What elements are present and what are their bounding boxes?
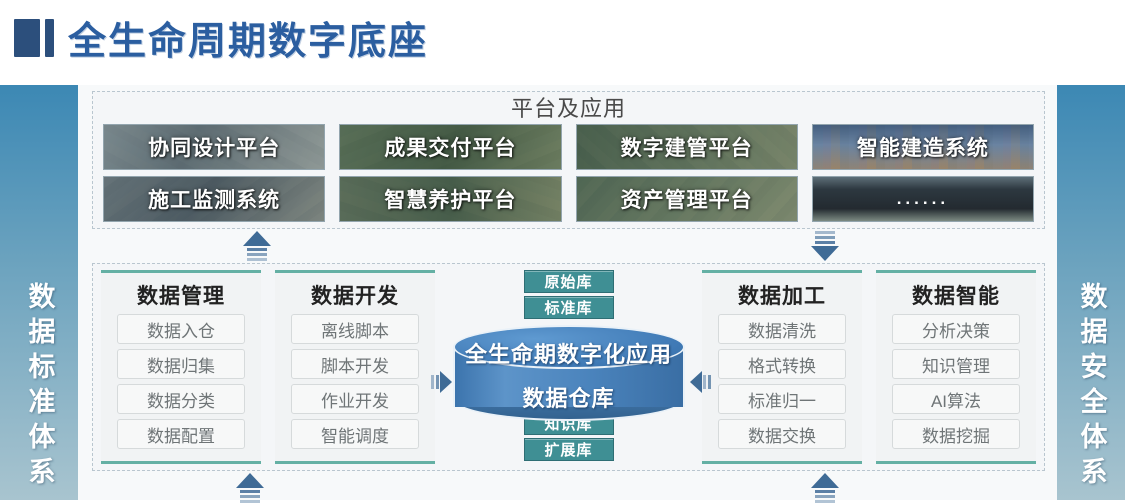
platform-card-smart-construction-system[interactable]: 智能建造系统 bbox=[812, 124, 1034, 170]
platform-card-smart-maintenance[interactable]: 智慧养护平台 bbox=[339, 176, 561, 222]
data-column-item[interactable]: 离线脚本 bbox=[291, 314, 419, 344]
right-vertical-band: 数据安全体系 bbox=[1057, 85, 1125, 500]
arrow-left-icon-from-warehouse bbox=[690, 371, 711, 393]
title-mark-icon bbox=[14, 19, 54, 57]
data-column-title: 数据加工 bbox=[738, 280, 826, 310]
diagram-inner: 平台及应用 协同设计平台 成果交付平台 数字建管平台 智能建造系统 施工监测系统 bbox=[78, 85, 1057, 500]
platform-card-grid: 协同设计平台 成果交付平台 数字建管平台 智能建造系统 施工监测系统 智慧养护平… bbox=[93, 124, 1044, 228]
data-column-data-intelligence: 数据智能 分析决策 知识管理 AI算法 数据挖掘 bbox=[876, 270, 1036, 464]
arrow-right-icon-into-warehouse bbox=[431, 371, 452, 393]
arrow-head bbox=[236, 473, 264, 488]
data-warehouse-cylinder: 全生命期数字化应用 数据仓库 bbox=[453, 325, 685, 408]
arrow-down-icon-platform-right bbox=[811, 231, 839, 261]
arrow-up-icon-bottom-left bbox=[236, 473, 264, 503]
platform-card-label: 智慧养护平台 bbox=[384, 184, 516, 214]
platform-card-asset-management[interactable]: 资产管理平台 bbox=[576, 176, 798, 222]
data-columns-row: 数据管理 数据入仓 数据归集 数据分类 数据配置 数据开发 离线脚本 脚本开发 … bbox=[93, 264, 1044, 470]
right-band-label: 数据安全体系 bbox=[1078, 282, 1105, 500]
data-column-item[interactable]: 数据入仓 bbox=[117, 314, 245, 344]
data-column-item[interactable]: 数据交换 bbox=[718, 419, 846, 449]
arrow-head bbox=[243, 231, 271, 246]
left-band-label: 数据标准体系 bbox=[26, 282, 53, 500]
diagram-board: 数据标准体系 数据安全体系 平台及应用 协同设计平台 成果交付平台 数字建管平台… bbox=[0, 85, 1125, 500]
page-header: 全生命周期数字底座 bbox=[0, 0, 1125, 75]
platform-section: 平台及应用 协同设计平台 成果交付平台 数字建管平台 智能建造系统 施工监测系统 bbox=[92, 91, 1045, 229]
chip-standard-library[interactable]: 标准库 bbox=[524, 296, 614, 319]
platform-card-ellipsis-label: ...... bbox=[897, 189, 949, 209]
data-column-title: 数据开发 bbox=[311, 280, 399, 310]
data-column-item[interactable]: 数据清洗 bbox=[718, 314, 846, 344]
arrow-stack bbox=[815, 231, 835, 244]
platform-card-label: 施工监测系统 bbox=[148, 184, 280, 214]
arrow-head bbox=[811, 246, 839, 261]
arrow-stack bbox=[240, 490, 260, 503]
arrow-bars bbox=[703, 375, 711, 389]
data-column-item[interactable]: 知识管理 bbox=[892, 349, 1020, 379]
platform-card-label: 资产管理平台 bbox=[621, 184, 753, 214]
data-platform-section: 数据管理 数据入仓 数据归集 数据分类 数据配置 数据开发 离线脚本 脚本开发 … bbox=[92, 263, 1045, 471]
platform-card-collaborative-design[interactable]: 协同设计平台 bbox=[103, 124, 325, 170]
arrow-bars bbox=[431, 375, 439, 389]
cylinder-top-label: 全生命期数字化应用 bbox=[453, 337, 685, 369]
platform-card-label: 智能建造系统 bbox=[857, 132, 989, 162]
data-column-data-management: 数据管理 数据入仓 数据归集 数据分类 数据配置 bbox=[101, 270, 261, 464]
platform-card-label: 协同设计平台 bbox=[148, 132, 280, 162]
data-column-title: 数据智能 bbox=[912, 280, 1000, 310]
data-column-item[interactable]: 数据分类 bbox=[117, 384, 245, 414]
layout-spacer bbox=[693, 270, 703, 464]
platform-card-more[interactable]: ...... bbox=[812, 176, 1034, 222]
data-column-title: 数据管理 bbox=[137, 280, 225, 310]
data-column-item[interactable]: 智能调度 bbox=[291, 419, 419, 449]
arrow-stack bbox=[247, 248, 267, 261]
arrow-up-icon-bottom-right bbox=[811, 473, 839, 503]
layout-spacer bbox=[435, 270, 445, 464]
platform-card-construction-monitoring[interactable]: 施工监测系统 bbox=[103, 176, 325, 222]
platform-card-label: 成果交付平台 bbox=[384, 132, 516, 162]
data-column-item[interactable]: 数据配置 bbox=[117, 419, 245, 449]
data-column-item[interactable]: 作业开发 bbox=[291, 384, 419, 414]
data-warehouse-center: 原始库 标准库 全生命期数字化应用 数据仓库 bbox=[445, 270, 693, 464]
column-gap bbox=[261, 270, 275, 464]
cylinder-bottom-label: 数据仓库 bbox=[453, 381, 685, 413]
data-column-data-processing: 数据加工 数据清洗 格式转换 标准归一 数据交换 bbox=[702, 270, 862, 464]
platform-card-digital-construction-mgmt[interactable]: 数字建管平台 bbox=[576, 124, 798, 170]
arrow-stack bbox=[815, 490, 835, 503]
page-title: 全生命周期数字底座 bbox=[68, 10, 428, 65]
platform-section-title: 平台及应用 bbox=[93, 94, 1044, 124]
chip-raw-library[interactable]: 原始库 bbox=[524, 270, 614, 293]
platform-card-label: 数字建管平台 bbox=[621, 132, 753, 162]
title-bar-icon bbox=[45, 19, 54, 57]
title-square-icon bbox=[14, 19, 40, 57]
platform-card-deliverable-delivery[interactable]: 成果交付平台 bbox=[339, 124, 561, 170]
data-column-item[interactable]: 数据归集 bbox=[117, 349, 245, 379]
arrow-head bbox=[440, 371, 452, 393]
column-gap bbox=[862, 270, 876, 464]
data-column-item[interactable]: 分析决策 bbox=[892, 314, 1020, 344]
data-column-item[interactable]: AI算法 bbox=[892, 384, 1020, 414]
arrow-up-icon-platform-left bbox=[243, 231, 271, 261]
data-column-item[interactable]: 脚本开发 bbox=[291, 349, 419, 379]
data-column-item[interactable]: 格式转换 bbox=[718, 349, 846, 379]
data-column-item[interactable]: 数据挖掘 bbox=[892, 419, 1020, 449]
chip-extension-library[interactable]: 扩展库 bbox=[524, 438, 614, 461]
arrow-head bbox=[811, 473, 839, 488]
left-vertical-band: 数据标准体系 bbox=[0, 85, 78, 500]
data-column-data-development: 数据开发 离线脚本 脚本开发 作业开发 智能调度 bbox=[275, 270, 435, 464]
data-column-item[interactable]: 标准归一 bbox=[718, 384, 846, 414]
arrow-head bbox=[690, 371, 702, 393]
